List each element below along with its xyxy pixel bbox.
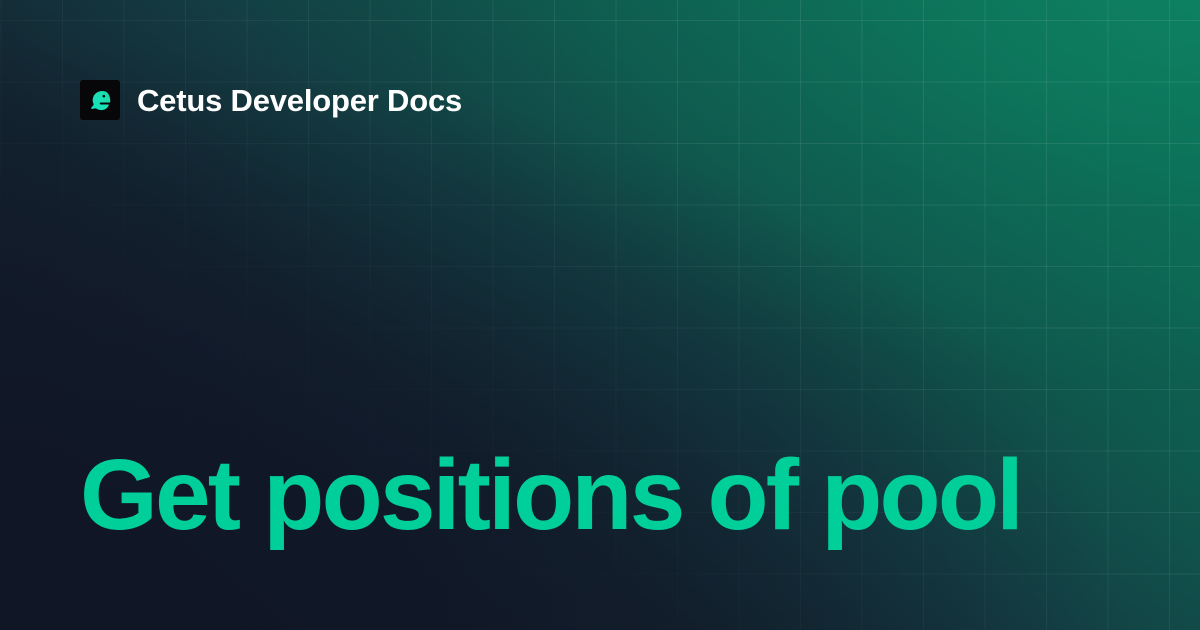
og-card: Cetus Developer Docs Get positions of po… [0,0,1200,630]
page-title: Get positions of pool [80,443,1120,548]
card-content: Cetus Developer Docs Get positions of po… [0,0,1200,630]
cetus-whale-logo-icon [80,80,120,120]
brand-title: Cetus Developer Docs [137,85,462,116]
brand-row: Cetus Developer Docs [80,80,462,120]
